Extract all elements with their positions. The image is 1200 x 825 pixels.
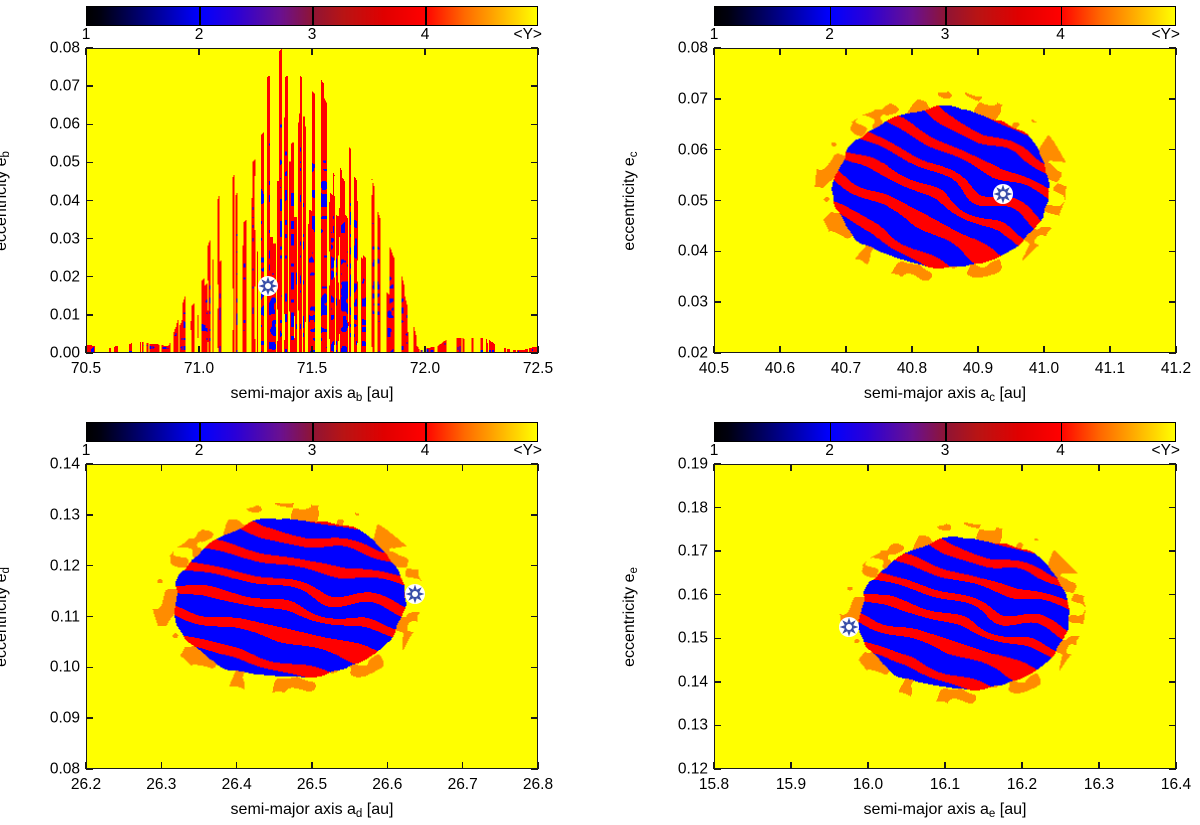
y-tick	[86, 667, 93, 668]
star-in-circle-icon	[404, 583, 426, 605]
colorbar-tick-label: 4	[421, 27, 430, 43]
y-tick-label: 0.06	[28, 117, 80, 133]
x-tick	[1109, 48, 1110, 55]
y-tick-label: 0.08	[656, 40, 708, 56]
x-tick	[387, 464, 388, 471]
x-tick-label: 71.0	[184, 361, 214, 377]
y-tick-label: 0.19	[656, 456, 708, 472]
y-tick-label: 0.15	[656, 631, 708, 647]
y-tick	[531, 667, 538, 668]
y-tick	[86, 85, 93, 86]
y-tick-label: 0.06	[656, 142, 708, 158]
colorbar-tick-label: 4	[1056, 443, 1065, 459]
x-tick	[1098, 762, 1099, 769]
y-tick	[86, 276, 93, 277]
colorbar-separator	[199, 6, 201, 26]
y-tick	[1169, 507, 1176, 508]
panel-d-y-axis-title: eccentricity ed	[0, 567, 13, 667]
y-tick-label: 0.01	[28, 307, 80, 323]
panel-b-x-axis-title: semi-major axis ab [au]	[231, 386, 394, 405]
x-tick	[790, 762, 791, 769]
x-tick	[911, 346, 912, 353]
x-tick	[161, 464, 162, 471]
y-tick	[86, 565, 93, 566]
x-tick-label: 40.9	[963, 361, 993, 377]
colorbar-tick-label: 2	[825, 443, 834, 459]
x-tick-label: 26.6	[372, 777, 402, 793]
colorbar-unit-label: <Y>	[514, 443, 542, 459]
colorbar-tick-label: 1	[82, 443, 91, 459]
x-tick-label: 26.5	[297, 777, 327, 793]
x-tick	[713, 464, 714, 471]
star-in-circle-icon	[257, 275, 279, 297]
y-tick	[86, 162, 93, 163]
x-tick	[779, 346, 780, 353]
y-tick-label: 0.09	[28, 710, 80, 726]
panel-d-megno-map	[87, 465, 537, 768]
y-tick	[714, 251, 721, 252]
panel-d-x-axis-title: semi-major axis ad [au]	[231, 802, 394, 821]
colorbar-separator	[945, 6, 947, 26]
colorbar-tick-label: 4	[1056, 27, 1065, 43]
x-axis-title-text: semi-major axis a	[864, 801, 989, 818]
x-tick-label: 26.4	[222, 777, 252, 793]
y-tick-label: 0.04	[28, 193, 80, 209]
y-tick	[714, 301, 721, 302]
x-tick	[944, 762, 945, 769]
colorbar-unit-label: <Y>	[1152, 27, 1180, 43]
y-tick	[714, 507, 721, 508]
x-tick-label: 41.0	[1029, 361, 1059, 377]
y-tick	[1169, 725, 1176, 726]
y-tick	[714, 725, 721, 726]
panel-e-colorbar: 1234<Y>	[714, 422, 1176, 462]
y-tick	[531, 85, 538, 86]
colorbar-separator	[945, 422, 947, 442]
x-tick	[944, 464, 945, 471]
y-tick	[1169, 594, 1176, 595]
y-tick	[86, 717, 93, 718]
y-tick	[714, 768, 721, 769]
y-tick-label: 0.08	[28, 40, 80, 56]
y-axis-title-text: eccentricity e	[621, 157, 638, 250]
y-tick-label: 0.05	[28, 155, 80, 171]
panel-b-y-axis-title: eccentricity eb	[0, 151, 13, 251]
y-tick-label: 0.00	[28, 345, 80, 361]
panel-c-colorbar: 1234<Y>	[714, 6, 1176, 46]
y-tick	[531, 276, 538, 277]
x-tick	[311, 346, 312, 353]
x-tick	[462, 762, 463, 769]
y-tick	[1169, 681, 1176, 682]
x-tick-label: 16.4	[1161, 777, 1191, 793]
panel-d: 1234<Y>26.226.326.426.526.626.726.80.080…	[0, 416, 568, 825]
x-tick	[161, 762, 162, 769]
x-tick	[236, 464, 237, 471]
y-tick-label: 0.12	[28, 558, 80, 574]
x-tick	[198, 346, 199, 353]
x-tick	[387, 762, 388, 769]
y-tick-label: 0.07	[28, 78, 80, 94]
y-tick-label: 0.13	[28, 507, 80, 523]
x-tick	[779, 48, 780, 55]
panel-c-x-axis-title: semi-major axis ac [au]	[864, 386, 1026, 405]
star-in-circle-icon	[992, 183, 1014, 205]
y-tick	[86, 200, 93, 201]
x-tick-label: 70.5	[71, 361, 101, 377]
y-tick	[86, 768, 93, 769]
y-tick	[1169, 638, 1176, 639]
panel-c-y-axis-title: eccentricity ec	[622, 151, 641, 250]
x-tick-label: 41.1	[1095, 361, 1125, 377]
y-tick	[86, 47, 93, 48]
colorbar-tick-label: 2	[825, 27, 834, 43]
x-axis-title-text: semi-major axis a	[231, 801, 356, 818]
x-tick-label: 40.6	[765, 361, 795, 377]
y-tick-label: 0.18	[656, 500, 708, 516]
y-axis-title-sub: e	[628, 567, 640, 573]
colorbar-tick-label: 3	[308, 443, 317, 459]
x-tick-label: 40.7	[831, 361, 861, 377]
panel-c-plot-area	[714, 48, 1176, 353]
y-axis-title-sub: b	[0, 151, 12, 157]
x-tick	[713, 48, 714, 55]
x-tick	[867, 762, 868, 769]
x-tick	[1098, 464, 1099, 471]
x-tick	[1109, 346, 1110, 353]
y-tick	[86, 616, 93, 617]
y-tick-label: 0.03	[656, 294, 708, 310]
x-tick	[1175, 48, 1176, 55]
y-tick	[1169, 352, 1176, 353]
x-tick-label: 26.8	[523, 777, 553, 793]
x-tick	[311, 464, 312, 471]
x-tick	[424, 346, 425, 353]
x-tick	[537, 48, 538, 55]
y-tick	[714, 200, 721, 201]
panel-b: 1234<Y>70.571.071.572.072.50.000.010.020…	[0, 0, 568, 410]
x-tick-label: 15.8	[699, 777, 729, 793]
y-tick	[531, 314, 538, 315]
panel-e-y-axis-title: eccentricity ee	[622, 567, 641, 667]
colorbar-unit-label: <Y>	[514, 27, 542, 43]
panel-d-plot-area	[86, 464, 538, 769]
x-tick	[1043, 346, 1044, 353]
y-tick	[531, 717, 538, 718]
x-tick	[537, 464, 538, 471]
x-tick	[1021, 762, 1022, 769]
y-tick	[86, 463, 93, 464]
y-tick	[1169, 768, 1176, 769]
y-tick	[1169, 98, 1176, 99]
y-tick	[531, 200, 538, 201]
y-tick	[714, 550, 721, 551]
colorbar-tick-label: 1	[710, 27, 719, 43]
colorbar-separator	[830, 422, 832, 442]
y-tick	[531, 352, 538, 353]
y-tick	[714, 594, 721, 595]
colorbar-unit-label: <Y>	[1152, 443, 1180, 459]
y-tick	[531, 565, 538, 566]
y-tick-label: 0.02	[656, 345, 708, 361]
y-tick-label: 0.03	[28, 231, 80, 247]
colorbar-tick-label: 1	[710, 443, 719, 459]
y-tick	[1169, 47, 1176, 48]
x-tick	[845, 346, 846, 353]
x-tick	[1043, 48, 1044, 55]
y-tick-label: 0.05	[656, 193, 708, 209]
panel-d-colorbar: 1234<Y>	[86, 422, 538, 462]
y-tick	[1169, 251, 1176, 252]
y-tick-label: 0.08	[28, 761, 80, 777]
y-tick-label: 0.10	[28, 660, 80, 676]
x-tick-label: 16.1	[930, 777, 960, 793]
x-tick-label: 26.2	[71, 777, 101, 793]
y-tick	[714, 463, 721, 464]
x-tick-label: 40.8	[897, 361, 927, 377]
x-tick-label: 16.2	[1007, 777, 1037, 793]
x-tick-label: 72.5	[523, 361, 553, 377]
x-tick-label: 26.3	[146, 777, 176, 793]
x-tick	[311, 48, 312, 55]
x-tick	[85, 48, 86, 55]
y-axis-title-text: eccentricity e	[0, 573, 10, 666]
x-tick-label: 15.9	[776, 777, 806, 793]
y-tick-label: 0.11	[28, 609, 80, 625]
colorbar-tick-label: 4	[421, 443, 430, 459]
x-tick-label: 72.0	[410, 361, 440, 377]
x-tick	[790, 464, 791, 471]
x-tick-label: 41.2	[1161, 361, 1191, 377]
x-tick	[1175, 464, 1176, 471]
y-tick	[86, 238, 93, 239]
colorbar-tick-label: 1	[82, 27, 91, 43]
panel-b-megno-map	[87, 49, 537, 352]
colorbar-separator	[199, 422, 201, 442]
colorbar-tick-label: 2	[195, 443, 204, 459]
y-tick	[86, 352, 93, 353]
x-tick	[977, 346, 978, 353]
panel-c-megno-map	[715, 49, 1175, 352]
x-tick	[911, 48, 912, 55]
y-axis-title-text: eccentricity e	[621, 573, 638, 666]
y-axis-title-sub: c	[628, 151, 640, 157]
y-tick	[531, 162, 538, 163]
colorbar-tick-label: 2	[195, 27, 204, 43]
panel-e-plot-area	[714, 464, 1176, 769]
y-tick	[714, 149, 721, 150]
y-tick	[531, 616, 538, 617]
y-axis-title-text: eccentricity e	[0, 157, 10, 250]
y-tick	[531, 768, 538, 769]
x-tick	[867, 464, 868, 471]
panel-e: 1234<Y>15.815.916.016.116.216.316.40.120…	[600, 416, 1200, 825]
x-tick	[311, 762, 312, 769]
panel-e-megno-map	[715, 465, 1175, 768]
x-tick	[198, 48, 199, 55]
y-tick-label: 0.04	[656, 244, 708, 260]
panel-b-colorbar: 1234<Y>	[86, 6, 538, 46]
x-axis-title-text: semi-major axis a	[231, 385, 356, 402]
y-tick	[1169, 200, 1176, 201]
y-tick-label: 0.13	[656, 718, 708, 734]
y-tick	[714, 47, 721, 48]
star-in-circle-icon	[838, 616, 860, 638]
y-tick-label: 0.16	[656, 587, 708, 603]
y-tick	[531, 238, 538, 239]
colorbar-tick-label: 3	[941, 27, 950, 43]
y-tick	[714, 681, 721, 682]
x-tick	[1021, 464, 1022, 471]
y-tick-label: 0.14	[656, 674, 708, 690]
y-tick-label: 0.14	[28, 456, 80, 472]
x-tick-label: 71.5	[297, 361, 327, 377]
x-tick	[424, 48, 425, 55]
x-tick-label: 16.0	[853, 777, 883, 793]
colorbar-tick-label: 3	[941, 443, 950, 459]
y-tick-label: 0.02	[28, 269, 80, 285]
x-tick	[977, 48, 978, 55]
x-tick	[236, 762, 237, 769]
y-tick	[531, 514, 538, 515]
y-tick	[1169, 149, 1176, 150]
x-tick	[85, 464, 86, 471]
x-tick-label: 26.7	[448, 777, 478, 793]
y-tick	[714, 638, 721, 639]
y-tick	[714, 98, 721, 99]
x-axis-title-text: semi-major axis a	[864, 385, 989, 402]
colorbar-tick-label: 3	[308, 27, 317, 43]
x-tick	[462, 464, 463, 471]
colorbar-separator	[830, 6, 832, 26]
y-tick-label: 0.17	[656, 543, 708, 559]
y-tick	[1169, 463, 1176, 464]
x-tick	[845, 48, 846, 55]
y-tick-label: 0.12	[656, 761, 708, 777]
colorbar-separator	[312, 422, 314, 442]
y-tick	[531, 463, 538, 464]
x-tick-label: 16.3	[1084, 777, 1114, 793]
y-tick	[86, 514, 93, 515]
y-tick	[531, 47, 538, 48]
colorbar-separator	[312, 6, 314, 26]
panel-c: 1234<Y>40.540.640.740.840.941.041.141.20…	[600, 0, 1200, 410]
y-tick	[86, 124, 93, 125]
colorbar-separator	[425, 6, 427, 26]
panel-b-plot-area	[86, 48, 538, 353]
y-axis-title-sub: d	[0, 567, 12, 573]
y-tick	[714, 352, 721, 353]
colorbar-separator	[1061, 6, 1063, 26]
y-tick	[1169, 301, 1176, 302]
y-tick	[86, 314, 93, 315]
panel-e-x-axis-title: semi-major axis ae [au]	[864, 802, 1027, 821]
y-tick	[531, 124, 538, 125]
figure-root: 1234<Y>70.571.071.572.072.50.000.010.020…	[0, 0, 1200, 825]
colorbar-separator	[1061, 422, 1063, 442]
y-tick	[1169, 550, 1176, 551]
colorbar-separator	[425, 422, 427, 442]
x-tick-label: 40.5	[699, 361, 729, 377]
y-tick-label: 0.07	[656, 91, 708, 107]
